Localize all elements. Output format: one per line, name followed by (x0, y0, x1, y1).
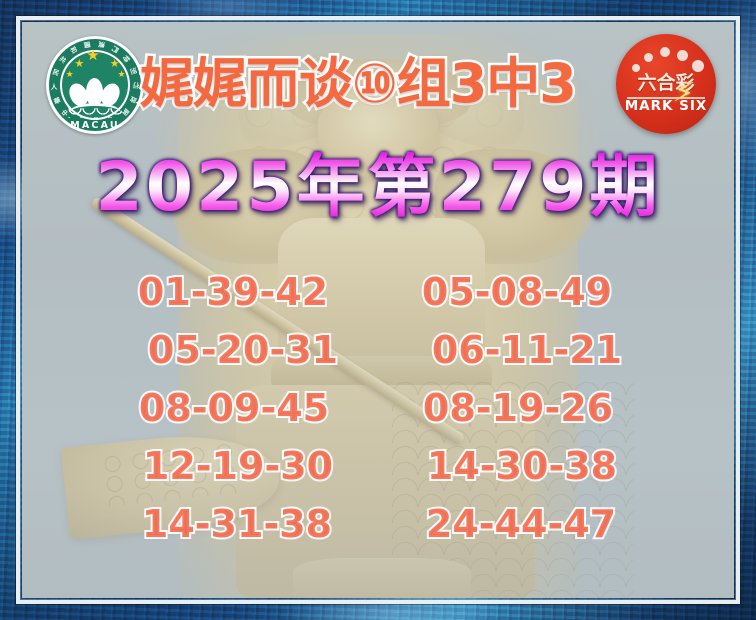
number-group-left: 05-20-31 (127, 331, 359, 369)
star-icon: ★ (86, 50, 99, 61)
number-row: 08-09-45 08-19-26 (22, 382, 734, 434)
number-row: 14-31-38 24-44-47 (22, 498, 734, 550)
number-group-left: 12-19-30 (122, 447, 354, 485)
logo-dot (692, 60, 704, 72)
emblem-lotus-icon (70, 76, 120, 106)
logo-dot (632, 64, 640, 72)
logo-chinese-label: 六合彩 (616, 74, 716, 93)
number-group-right: 08-19-26 (402, 389, 634, 427)
number-group-right: 05-08-49 (401, 273, 633, 311)
emblem-latin-label: MACAU (46, 120, 144, 131)
number-group-left: 14-31-38 (121, 505, 353, 543)
poster-canvas: 中華人民共和國澳門特別行政區 ★ ★ ★ ★ ★ MACAU 娓娓而谈⑩组3中3 (0, 0, 756, 620)
logo-english-label: MARK SIX (616, 100, 716, 114)
number-group-right: 14-30-38 (406, 447, 638, 485)
emblem-rim-char: 政 (128, 94, 138, 106)
lotus-petal (86, 78, 103, 106)
emblem-rim-char: 華 (52, 94, 62, 106)
star-icon: ★ (110, 58, 120, 69)
emblem-waves-icon (68, 108, 122, 118)
logo-dot (677, 50, 688, 61)
headline-text: 娓娓而谈⑩组3中3 (140, 57, 576, 111)
number-group-left: 01-39-42 (117, 273, 349, 311)
period-title: 2025年第279期 (22, 152, 734, 223)
headline: 娓娓而谈⑩组3中3 (140, 48, 640, 120)
number-row: 05-20-31 06-11-21 (22, 324, 734, 376)
number-row: 01-39-42 05-08-49 (22, 266, 734, 318)
number-group-left: 08-09-45 (118, 389, 350, 427)
number-row: 12-19-30 14-30-38 (22, 440, 734, 492)
poster-content: 中華人民共和國澳門特別行政區 ★ ★ ★ ★ ★ MACAU 娓娓而谈⑩组3中3 (22, 22, 734, 598)
statue-base (293, 558, 471, 598)
logo-dot (644, 53, 653, 62)
number-list: 01-39-42 05-08-49 05-20-31 06-11-21 08-0… (22, 266, 734, 550)
period-title-text: 2025年第279期 (95, 152, 660, 223)
number-group-right: 06-11-21 (411, 331, 643, 369)
number-group-right: 24-44-47 (405, 505, 637, 543)
star-icon: ★ (74, 58, 84, 69)
macau-emblem-icon: 中華人民共和國澳門特別行政區 ★ ★ ★ ★ ★ MACAU (46, 36, 144, 134)
logo-dot (660, 47, 670, 57)
mark-six-logo: 六合彩 ⚡ MARK SIX (616, 34, 716, 134)
